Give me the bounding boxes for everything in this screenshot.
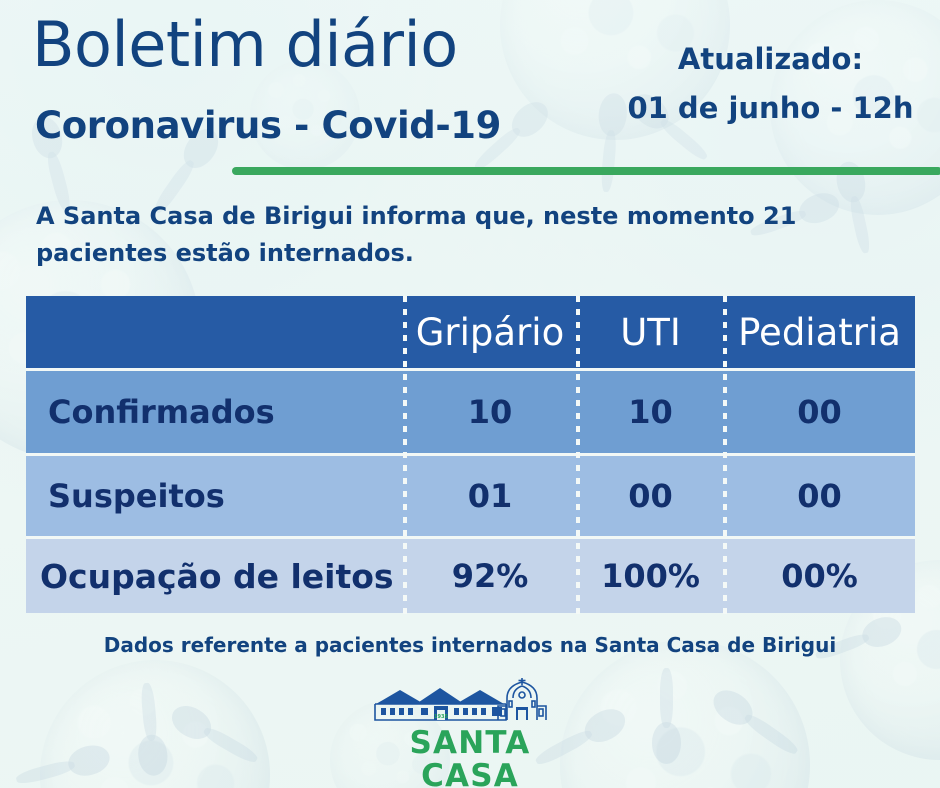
hospital-building-icon: 1935 bbox=[370, 676, 570, 726]
cell-ocupacao-uti: 100% bbox=[577, 557, 724, 595]
cell-suspeitos-uti: 00 bbox=[577, 477, 724, 515]
page-title: Boletim diário bbox=[32, 12, 458, 78]
row-label-ocupacao-de-leitos: Ocupação de leitos bbox=[26, 557, 403, 596]
header-cell-gripario: Gripário bbox=[403, 311, 577, 354]
table-row: Suspeitos 01 00 00 bbox=[26, 453, 915, 536]
santa-casa-logo: 1935 SANTA CASA BIRIGUI bbox=[370, 676, 570, 788]
cell-suspeitos-gripario: 01 bbox=[403, 477, 577, 515]
header-cell-uti: UTI bbox=[577, 311, 724, 354]
cell-ocupacao-gripario: 92% bbox=[403, 557, 577, 595]
table-header-row: Gripário UTI Pediatria bbox=[26, 296, 915, 368]
cell-ocupacao-pediatria: 00% bbox=[724, 557, 915, 595]
table-row: Ocupação de leitos 92% 100% 00% bbox=[26, 536, 915, 613]
daily-bulletin-poster: Boletim diário Coronavirus - Covid-19 At… bbox=[0, 0, 940, 788]
updated-label: Atualizado: bbox=[601, 42, 940, 76]
logo-year: 1935 bbox=[434, 714, 448, 720]
cell-suspeitos-pediatria: 00 bbox=[724, 477, 915, 515]
header-cell-pediatria: Pediatria bbox=[724, 311, 915, 354]
logo-name: SANTA CASA bbox=[370, 727, 570, 788]
page-subtitle: Coronavirus - Covid-19 bbox=[35, 104, 501, 147]
cell-confirmados-uti: 10 bbox=[577, 393, 724, 431]
cell-confirmados-gripario: 10 bbox=[403, 393, 577, 431]
cell-confirmados-pediatria: 00 bbox=[724, 393, 915, 431]
hospital-occupancy-table: Gripário UTI Pediatria Confirmados 10 10… bbox=[26, 296, 915, 619]
footnote-text: Dados referente a pacientes internados n… bbox=[0, 633, 940, 657]
updated-date: 01 de junho - 12h bbox=[601, 91, 940, 125]
row-label-confirmados: Confirmados bbox=[26, 393, 403, 431]
intro-paragraph: A Santa Casa de Birigui informa que, nes… bbox=[36, 198, 902, 272]
green-divider bbox=[232, 167, 940, 175]
table-row: Confirmados 10 10 00 bbox=[26, 368, 915, 453]
row-label-suspeitos: Suspeitos bbox=[26, 477, 403, 515]
